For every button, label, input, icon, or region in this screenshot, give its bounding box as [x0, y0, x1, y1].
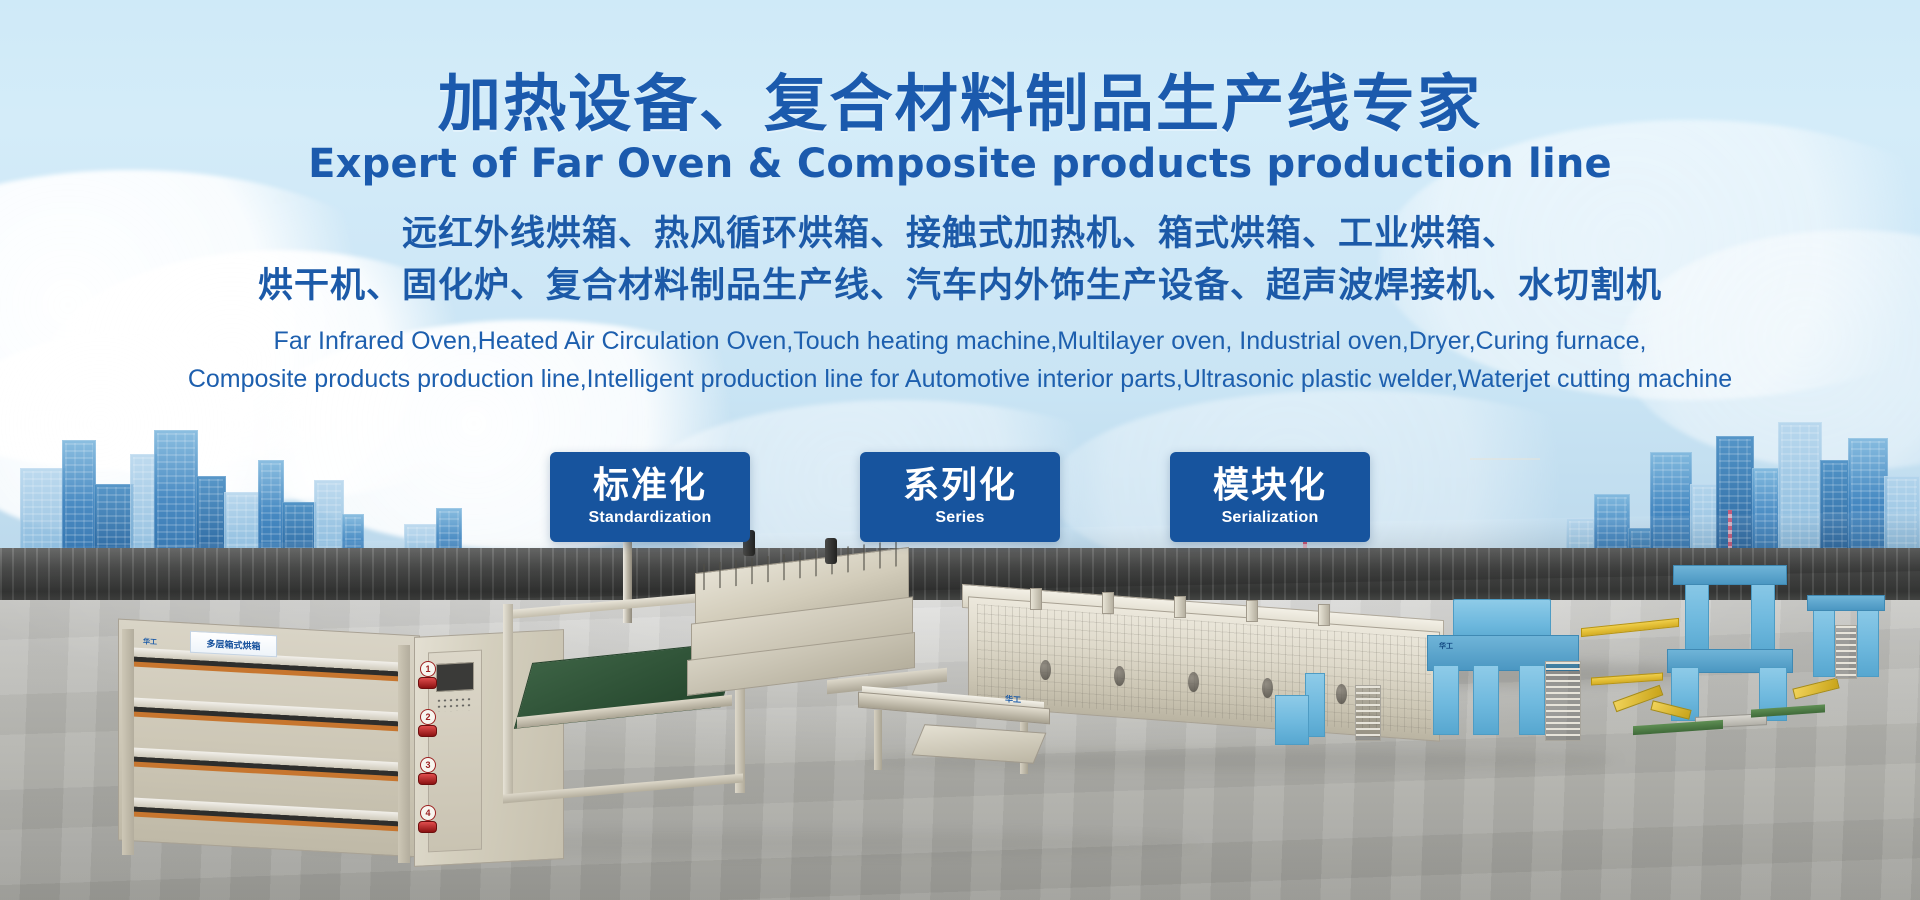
welder-leg [1473, 665, 1499, 735]
headline-block: 加热设备、复合材料制品生产线专家 Expert of Far Oven & Co… [0, 0, 1920, 398]
panel-number-3: 3 [420, 757, 436, 773]
product-list-en: Far Infrared Oven,Heated Air Circulation… [0, 322, 1920, 398]
green-mat [1633, 720, 1723, 735]
badge-label-cn: 系列化 [903, 467, 1017, 505]
exhaust-stack [1102, 592, 1114, 614]
inspection-port [1040, 660, 1051, 680]
panel-number-2: 2 [420, 709, 436, 725]
machine-nameplate-text: 多层箱式烘箱 [206, 636, 260, 652]
machine-multilayer-oven: 华工 多层箱式烘箱 1 2 3 4 [118, 605, 558, 895]
panel-number-1: 1 [420, 661, 436, 677]
conveyor-rail [1581, 618, 1679, 637]
inspection-port [1336, 684, 1347, 704]
oven-frame-post [122, 629, 134, 855]
indicator-lamp[interactable] [418, 725, 437, 737]
badge-label-cn: 模块化 [1213, 467, 1327, 505]
indicator-lamp[interactable] [418, 773, 437, 785]
badge-label-cn: 标准化 [593, 467, 707, 505]
access-ladder [1545, 661, 1581, 741]
badge-label-en: Serialization [1222, 509, 1319, 527]
inspection-port [1262, 678, 1273, 698]
page-title-en: Expert of Far Oven & Composite products … [0, 142, 1920, 186]
transfer-cart-body [1275, 695, 1309, 745]
exhaust-stack [1246, 600, 1258, 622]
indicator-lamp[interactable] [418, 821, 437, 833]
exhaust-stack [1174, 596, 1186, 618]
robot-arm [1792, 678, 1839, 700]
machine-nameplate: 多层箱式烘箱 [190, 631, 277, 658]
product-list-cn-line-1: 远红外线烘箱、热风循环烘箱、接触式加热机、箱式烘箱、工业烘箱、 [0, 208, 1920, 260]
access-ladder [1355, 685, 1381, 741]
conveyor-rail [1591, 672, 1663, 685]
welder-column [1751, 575, 1775, 657]
inspection-port [1188, 672, 1199, 692]
press-frame-leg [503, 604, 513, 799]
welder-leg [1519, 665, 1545, 735]
inspection-port [1114, 666, 1125, 686]
banner-stage: 华工 多层箱式烘箱 1 2 3 4 [0, 0, 1920, 900]
feature-badge-row: 标准化 Standardization 系列化 Series 模块化 Seria… [0, 452, 1920, 542]
indicator-lamp[interactable] [418, 677, 437, 689]
welder-brand-mark: 华工 [1439, 641, 1453, 651]
machine-brand-mark: 华工 [143, 637, 157, 648]
lift-crosshead [1807, 595, 1885, 611]
exhaust-stack [1318, 604, 1330, 626]
product-list-en-line-1: Far Infrared Oven,Heated Air Circulation… [0, 322, 1920, 360]
welder-leg [1433, 665, 1459, 735]
panel-number-4: 4 [420, 805, 436, 821]
product-list-en-line-2: Composite products production line,Intel… [0, 360, 1920, 398]
control-screen[interactable] [436, 662, 474, 692]
page-title-cn: 加热设备、复合材料制品生产线专家 [0, 72, 1920, 136]
access-ladder [1835, 625, 1857, 679]
badge-label-en: Standardization [588, 509, 711, 527]
welder-crosshead [1673, 565, 1787, 585]
badge-series[interactable]: 系列化 Series [860, 452, 1060, 542]
tunnel-oven-brand-mark: 华工 [1005, 693, 1021, 705]
lift-column [1813, 605, 1835, 677]
vent-grille-icon [436, 696, 472, 712]
exhaust-stack [1030, 588, 1042, 610]
product-list-cn: 远红外线烘箱、热风循环烘箱、接触式加热机、箱式烘箱、工业烘箱、 烘干机、固化炉、… [0, 208, 1920, 312]
press-frame-base [503, 774, 743, 804]
conveyor-leg [874, 710, 882, 770]
welder-column [1685, 575, 1709, 657]
lift-column [1857, 605, 1879, 677]
badge-label-en: Series [935, 509, 984, 527]
oven-frame-post [398, 645, 410, 863]
badge-standardization[interactable]: 标准化 Standardization [550, 452, 750, 542]
machine-ultrasonic-welder-cluster: 华工 [1395, 565, 1895, 865]
product-list-cn-line-2: 烘干机、固化炉、复合材料制品生产线、汽车内外饰生产设备、超声波焊接机、水切割机 [0, 260, 1920, 312]
badge-serialization[interactable]: 模块化 Serialization [1170, 452, 1370, 542]
